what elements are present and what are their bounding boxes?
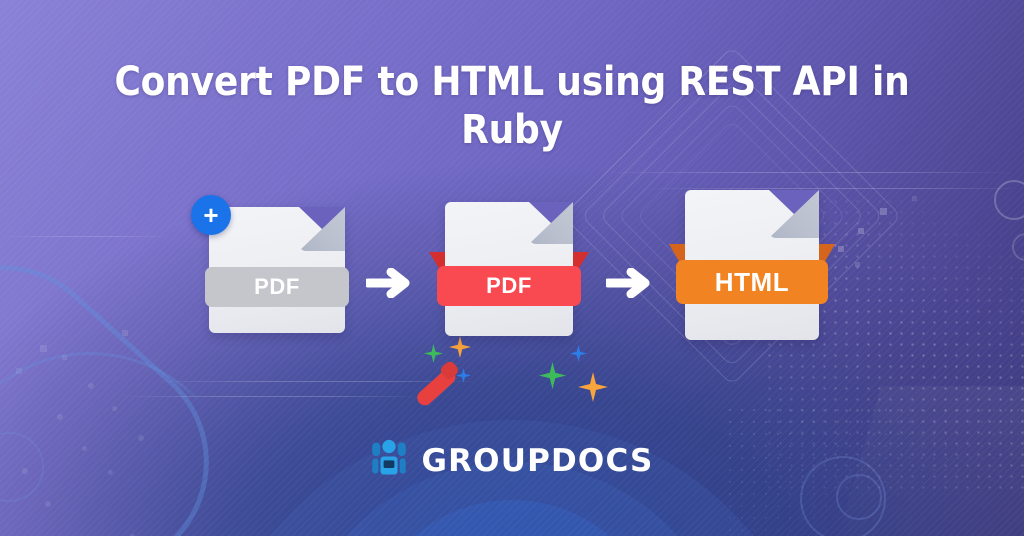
groupdocs-logo-icon bbox=[370, 438, 408, 483]
sparkle-blue-bottom bbox=[570, 345, 587, 362]
plus-icon: + bbox=[203, 202, 218, 228]
background-dot-1 bbox=[88, 383, 94, 389]
sparkle-green-bottom bbox=[539, 362, 566, 389]
background-square-7 bbox=[62, 355, 67, 360]
intermediate-document[interactable]: PDF bbox=[445, 202, 573, 336]
output-document[interactable]: HTML bbox=[685, 190, 819, 340]
banner-canvas: Convert PDF to HTML using REST API in Ru… bbox=[0, 0, 1024, 536]
conversion-arrow-1 bbox=[366, 268, 410, 298]
sparkle-orange-bottom bbox=[578, 372, 608, 402]
brand-name: GROUPDOCS bbox=[421, 443, 653, 479]
sparkle-green-top bbox=[424, 344, 443, 363]
brand-logo[interactable]: GROUPDOCS bbox=[0, 438, 1024, 483]
background-rule-2 bbox=[640, 188, 1024, 189]
sparkle-orange-top bbox=[449, 336, 471, 358]
conversion-arrow-2 bbox=[606, 268, 650, 298]
file-type-badge: HTML bbox=[676, 260, 828, 304]
background-dot-3 bbox=[112, 406, 117, 411]
page-title: Convert PDF to HTML using REST API in Ru… bbox=[0, 58, 1024, 154]
conversion-flow: PDF + PDF bbox=[0, 190, 1024, 350]
add-badge[interactable]: + bbox=[191, 195, 231, 235]
background-arc-inner bbox=[362, 500, 662, 536]
file-type-badge: PDF bbox=[437, 266, 581, 306]
background-square-8 bbox=[16, 368, 22, 374]
file-type-badge: PDF bbox=[205, 267, 349, 307]
background-rule-1 bbox=[596, 172, 1016, 173]
source-document[interactable]: PDF + bbox=[209, 207, 345, 333]
background-dot-8 bbox=[45, 501, 51, 507]
background-dot-2 bbox=[57, 414, 63, 420]
sparkle-blue-top bbox=[456, 368, 471, 383]
background-rule-4 bbox=[120, 396, 420, 397]
